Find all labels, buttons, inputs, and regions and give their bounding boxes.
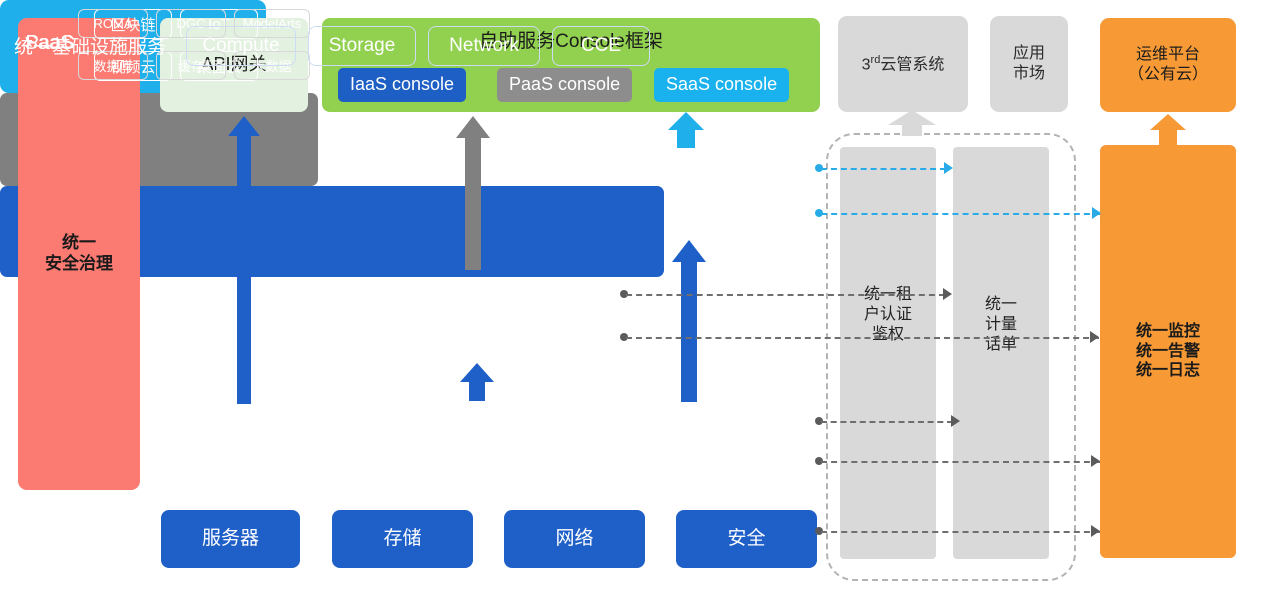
hardware-label-server: 服务器 — [202, 527, 259, 550]
hardware-box-storage: 存储 — [332, 510, 473, 568]
security-panel-line2: 安全治理 — [45, 254, 113, 275]
hardware-label-storage: 存储 — [383, 527, 421, 550]
saas-console-chip: SaaS console — [654, 68, 789, 102]
architecture-diagram: 统一 安全治理 API网关 自助服务Console框架 IaaS console… — [0, 0, 1265, 605]
dashed-infra-to-ops — [821, 461, 1100, 463]
arrow-infra-to-paas — [460, 363, 494, 401]
ops-bottom-line3: 统一日志 — [1136, 361, 1200, 381]
dashed-infra-to-metering — [821, 421, 953, 423]
security-governance-panel: 统一 安全治理 — [18, 18, 140, 490]
arrow-saas-to-saas-console — [668, 112, 704, 148]
infra-chip-compute: Compute — [186, 26, 296, 66]
arrowhead-hardware-to-ops — [1091, 525, 1100, 537]
arrowhead-saas-to-ops — [1092, 207, 1101, 219]
ops-platform-bottom-box: 统一监控 统一告警 统一日志 — [1100, 145, 1236, 558]
arrowhead-paas-to-ops — [1090, 331, 1099, 343]
hardware-box-network: 网络 — [504, 510, 645, 568]
infra-chip-storage: Storage — [308, 26, 416, 66]
arrowhead-paas-to-auth — [943, 288, 952, 300]
dashed-saas-to-auth — [821, 168, 946, 170]
app-market-line2: 市场 — [1013, 64, 1045, 84]
third-party-cloud-mgmt-box: 3rd云管系统 — [838, 16, 968, 112]
arrowhead-saas-to-auth — [944, 162, 953, 174]
unified-metering-column: 统一 计量 话单 — [953, 147, 1049, 559]
dashed-saas-to-ops — [821, 213, 1100, 215]
infrastructure-label: 统一基础设施服务 — [14, 32, 166, 59]
hardware-box-security: 安全 — [676, 510, 817, 568]
iaas-console-chip: IaaS console — [338, 68, 466, 102]
hardware-label-network: 网络 — [555, 527, 593, 550]
third-party-label: 3rd云管系统 — [862, 54, 945, 75]
app-market-box: 应用 市场 — [990, 16, 1068, 112]
infra-chip-network: Network — [428, 26, 540, 66]
ops-top-line2: （公有云） — [1128, 65, 1208, 85]
arrow-infra-to-saas — [672, 240, 706, 402]
ops-bottom-line2: 统一告警 — [1136, 342, 1200, 362]
hardware-label-security: 安全 — [727, 527, 765, 550]
arrow-ops-bottom-to-ops-top — [1150, 114, 1186, 146]
infra-chip-cce: CCE — [552, 26, 650, 66]
dashed-paas-to-ops — [626, 337, 1099, 339]
security-panel-line1: 统一 — [45, 233, 113, 254]
ops-platform-top-box: 运维平台 （公有云） — [1100, 18, 1236, 112]
dashed-hardware-to-ops — [821, 531, 1100, 533]
dashed-paas-to-auth — [626, 294, 945, 296]
paas-console-chip: PaaS console — [497, 68, 632, 102]
app-market-line1: 应用 — [1013, 44, 1045, 64]
hardware-box-server: 服务器 — [161, 510, 300, 568]
arrow-auth-to-third-party — [888, 110, 936, 136]
unified-tenant-auth-column: 统一租 户认证 鉴权 — [840, 147, 936, 559]
arrowhead-infra-to-metering — [951, 415, 960, 427]
ops-top-line1: 运维平台 — [1128, 45, 1208, 65]
third-party-superscript: rd — [871, 54, 881, 66]
arrow-infra-to-api-gateway — [228, 116, 260, 404]
arrow-paas-to-paas-console — [456, 116, 490, 270]
metering-column-text: 统一 计量 话单 — [985, 295, 1017, 355]
ops-bottom-line1: 统一监控 — [1136, 322, 1200, 342]
arrowhead-infra-to-ops — [1091, 455, 1100, 467]
